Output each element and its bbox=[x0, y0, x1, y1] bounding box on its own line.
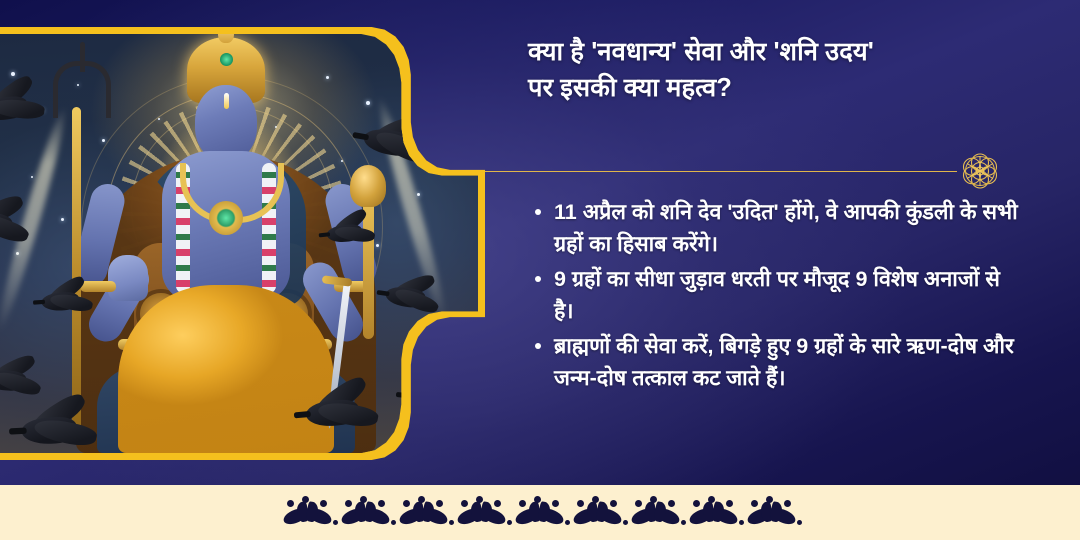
page-title-line-2: पर इसकी क्या महत्व? bbox=[528, 70, 1006, 106]
mace-head bbox=[350, 165, 386, 207]
lotus-leaf-border-motif-icon bbox=[453, 496, 511, 530]
shani-dev-deity-illustration bbox=[0, 34, 478, 453]
bullet-list: 11 अप्रैल को शनि देव 'उदित' होंगे, वे आप… bbox=[528, 196, 1020, 397]
lotus-leaf-border-motif-icon bbox=[685, 496, 743, 530]
page-title-line-1: क्या है 'नवधान्य' सेवा और 'शनि उदय' bbox=[528, 34, 1006, 70]
illustration-clip bbox=[0, 34, 478, 453]
trident-prongs bbox=[53, 61, 111, 118]
lotus-leaf-border-motif-icon bbox=[511, 496, 569, 530]
lotus-leaf-border-motif-icon bbox=[743, 496, 801, 530]
page-title: क्या है 'नवधान्य' सेवा और 'शनि उदय' पर इ… bbox=[528, 34, 1006, 106]
list-item: ब्राह्मणों की सेवा करें, बिगड़े हुए 9 ग्… bbox=[528, 330, 1020, 394]
content-column: क्या है 'नवधान्य' सेवा और 'शनि उदय' पर इ… bbox=[528, 0, 1028, 485]
trident-spike bbox=[80, 42, 85, 72]
crown-finial bbox=[218, 34, 234, 43]
poster-canvas: क्या है 'नवधान्य' सेवा और 'शनि उदय' पर इ… bbox=[0, 0, 1080, 540]
crown-gem bbox=[220, 53, 233, 66]
necklace-pendant bbox=[209, 201, 243, 235]
lotus-leaf-border-motif-icon bbox=[569, 496, 627, 530]
lotus-leaf-border-motif-icon bbox=[395, 496, 453, 530]
mandala-rosette-icon bbox=[951, 142, 1009, 200]
footer-motif-row bbox=[279, 495, 801, 531]
lotus-leaf-border-motif-icon bbox=[337, 496, 395, 530]
mace-icon bbox=[363, 199, 374, 339]
blessing-palm bbox=[108, 255, 148, 301]
bangle bbox=[80, 281, 116, 292]
illustration-gold-frame bbox=[0, 27, 485, 460]
trident-icon bbox=[72, 107, 81, 437]
saffron-dhoti bbox=[118, 285, 334, 453]
list-item: 9 ग्रहों का सीधा जुड़ाव धरती पर मौजूद 9 … bbox=[528, 263, 1020, 327]
divider-line bbox=[485, 171, 957, 172]
illustration-panel bbox=[0, 27, 485, 460]
lotus-leaf-border-motif-icon bbox=[627, 496, 685, 530]
footer-ornament-band bbox=[0, 485, 1080, 540]
tilak-mark bbox=[224, 93, 229, 109]
list-item: 11 अप्रैल को शनि देव 'उदित' होंगे, वे आप… bbox=[528, 196, 1020, 260]
lotus-leaf-border-motif-icon bbox=[279, 496, 337, 530]
